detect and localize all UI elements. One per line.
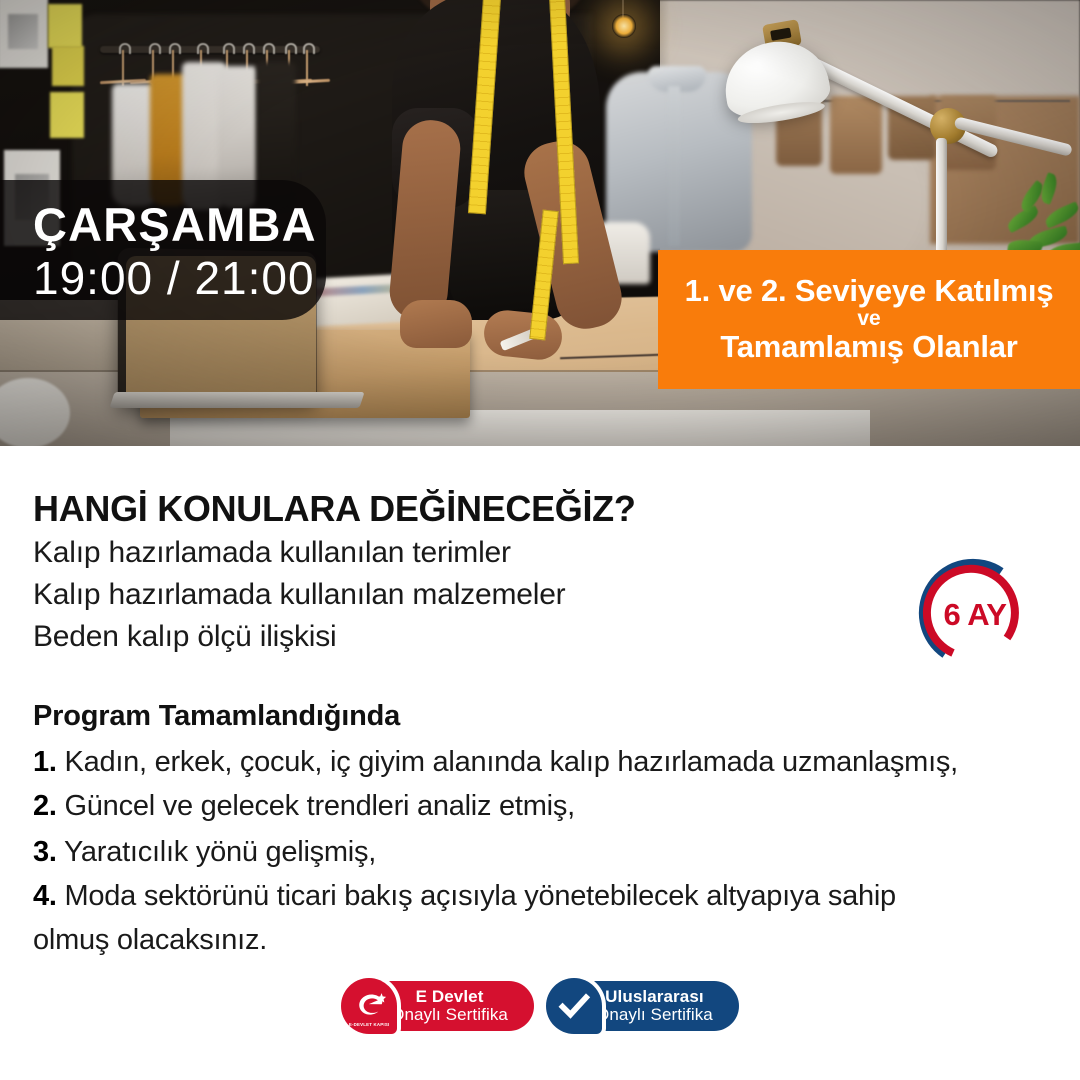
topic-item: Beden kalıp ölçü ilişkisi: [33, 620, 336, 654]
day-time-block: ÇARŞAMBA 19:00 / 21:00: [33, 201, 453, 305]
level-badge-line-2: ve: [857, 308, 880, 329]
program-outcome-item: 4. Moda sektörünü ticari bakış açısıyla …: [33, 880, 1023, 913]
program-outcomes-title: Program Tamamlandığında: [33, 700, 400, 733]
duration-label: 6 AY: [944, 597, 1008, 632]
duration-badge-rings: 6 AY: [915, 556, 1033, 674]
certificate-subtitle: Onaylı Sertifika: [391, 1006, 508, 1024]
certificate-international[interactable]: Uluslararası Onaylı Sertifika: [546, 978, 739, 1034]
day-label: ÇARŞAMBA: [33, 201, 453, 248]
program-outcome-text: Kadın, erkek, çocuk, iç giyim alanında k…: [65, 746, 958, 778]
program-outcome-item: 3. Yaratıcılık yönü gelişmiş,: [33, 836, 1023, 869]
program-outcome-number: 3.: [33, 836, 57, 868]
time-label: 19:00 / 21:00: [33, 253, 453, 305]
check-mark-icon: [546, 978, 602, 1034]
program-outcome-number: 4.: [33, 880, 57, 912]
program-outcome-text: Yaratıcılık yönü gelişmiş,: [64, 836, 376, 868]
topic-item: Kalıp hazırlamada kullanılan terimler: [33, 536, 511, 570]
check-glyph: [554, 986, 594, 1026]
program-outcome-text: Moda sektörünü ticari bakış açısıyla yön…: [65, 880, 896, 912]
edevlet-e-logo-icon: E-DEVLET KAPISI: [341, 978, 397, 1034]
poster-canvas: ÇARŞAMBA 19:00 / 21:00 1. ve 2. Seviyeye…: [0, 0, 1080, 1080]
program-outcome-tail: olmuş olacaksınız.: [33, 924, 267, 957]
edevlet-logo-caption: E-DEVLET KAPISI: [341, 1022, 397, 1027]
topic-item: Kalıp hazırlamada kullanılan malzemeler: [33, 578, 565, 612]
program-outcome-item: 2. Güncel ve gelecek trendleri analiz et…: [33, 790, 1023, 823]
certificate-edevlet[interactable]: E Devlet Onaylı Sertifika E-DEVLET KAPIS…: [341, 978, 534, 1034]
program-outcome-number: 1.: [33, 746, 57, 778]
program-outcome-number: 2.: [33, 790, 57, 822]
duration-badge: 6 AY: [915, 556, 1033, 674]
level-badge-line-1: 1. ve 2. Seviyeye Katılmış: [685, 275, 1054, 308]
certificate-title: E Devlet: [391, 988, 508, 1006]
certificate-title: Uluslararası: [596, 988, 713, 1006]
certificate-badges: E Devlet Onaylı Sertifika E-DEVLET KAPIS…: [0, 972, 1080, 1040]
program-outcome-item: 1. Kadın, erkek, çocuk, iç giyim alanınd…: [33, 746, 1023, 779]
program-outcome-text: Güncel ve gelecek trendleri analiz etmiş…: [65, 790, 575, 822]
level-badge-line-3: Tamamlamış Olanlar: [720, 330, 1017, 364]
check-path: [563, 997, 587, 1014]
section-heading: HANGİ KONULARA DEĞİNECEĞİZ?: [33, 488, 636, 530]
certificate-subtitle: Onaylı Sertifika: [596, 1006, 713, 1024]
hero-photo-section: ÇARŞAMBA 19:00 / 21:00 1. ve 2. Seviyeye…: [0, 0, 1080, 446]
level-requirement-badge: 1. ve 2. Seviyeye Katılmış ve Tamamlamış…: [658, 250, 1080, 389]
